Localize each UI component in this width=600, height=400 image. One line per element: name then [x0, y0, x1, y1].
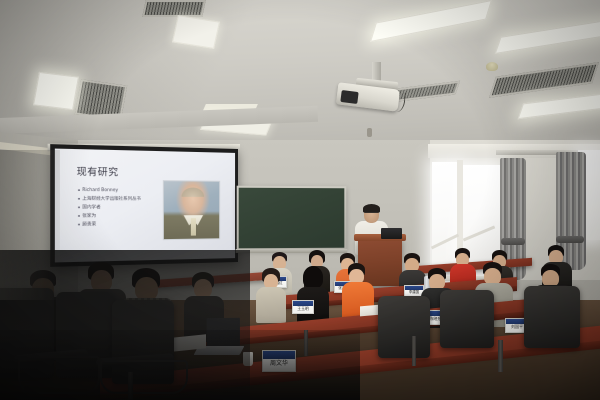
glasses-icon: [365, 212, 378, 216]
table-leg: [498, 340, 503, 372]
podium-monitor: [381, 228, 402, 239]
slide-bullet: 上海财经大学出版社系列丛书: [78, 194, 169, 203]
sprinkler-head-icon: [367, 128, 372, 137]
foreground-shadow: [0, 330, 360, 400]
slide-bullet: 顾贵荣: [78, 219, 169, 228]
curtain-tieback[interactable]: [501, 238, 525, 245]
table-leg: [412, 336, 416, 366]
projection-screen: 现有研究 Richard Bonney 上海财经大学出版社系列丛书 国内学者 张…: [50, 144, 238, 267]
ceiling-light-panel: [33, 72, 79, 110]
portrait-hair: [182, 188, 205, 197]
slide-title: 现有研究: [77, 164, 119, 178]
office-chair[interactable]: [440, 290, 494, 348]
blackboard-surface: [239, 188, 345, 249]
slide-bullet-list: Richard Bonney 上海财经大学出版社系列丛书 国内学者 张家为 顾贵…: [78, 186, 169, 229]
slide-portrait-photo: [163, 180, 220, 240]
podium: [358, 238, 402, 286]
slide-bullet: 国内学者: [78, 203, 169, 212]
attendee-torso: [256, 287, 286, 323]
left-wall-shadow: [0, 150, 60, 300]
office-chair[interactable]: [524, 286, 580, 348]
smoke-detector-icon: [486, 62, 498, 71]
name-placard: 王玉明: [292, 300, 314, 314]
slide-surface: 现有研究 Richard Bonney 上海财经大学出版社系列丛书 国内学者 张…: [55, 149, 235, 263]
seminar-room-photo: 现有研究 Richard Bonney 上海财经大学出版社系列丛书 国内学者 张…: [0, 0, 600, 400]
attendee-hair: [303, 266, 323, 288]
curtain-tieback[interactable]: [556, 236, 584, 243]
portrait-tie: [191, 218, 196, 235]
air-vent-grille-icon: [142, 0, 206, 17]
blackboard: [237, 186, 347, 251]
placard-name: 王玉明: [293, 306, 313, 311]
chalk-tray: [236, 249, 348, 253]
projector-lens-icon: [340, 90, 358, 104]
office-chair[interactable]: [378, 296, 430, 358]
